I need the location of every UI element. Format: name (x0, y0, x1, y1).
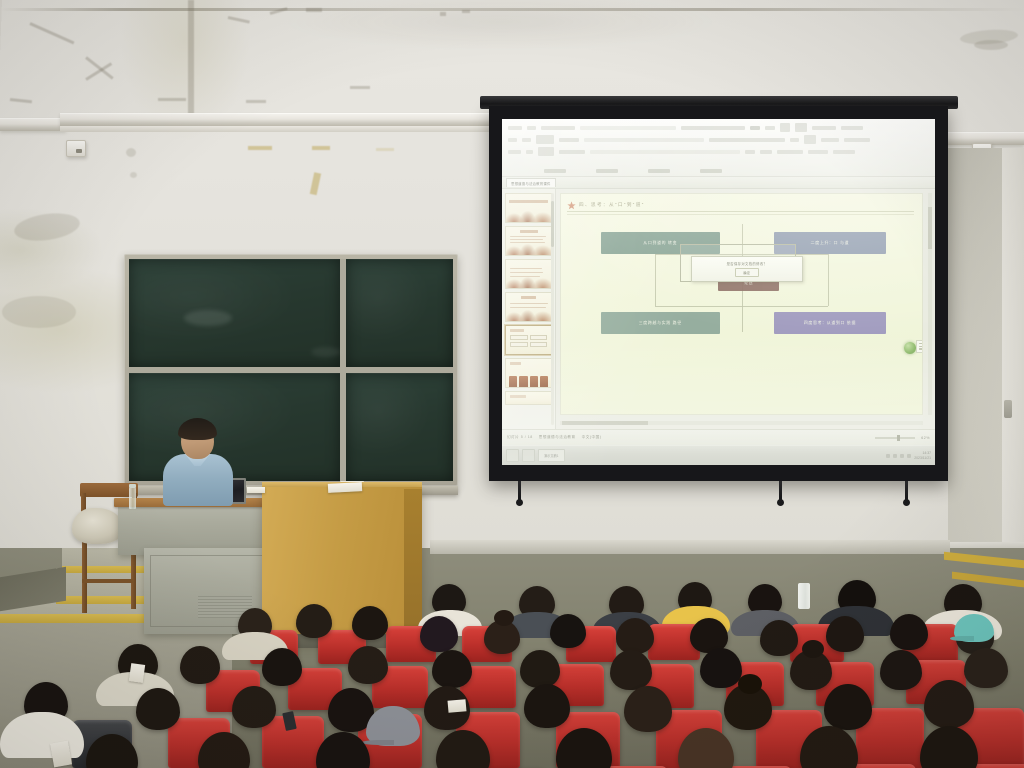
slide-vertical-scrollbar[interactable] (928, 193, 932, 415)
student-hair-bun (494, 610, 514, 626)
wall-streak (440, 12, 446, 16)
wall-stain (974, 40, 1008, 50)
wall-ceiling-seam (0, 8, 1024, 11)
wall-tape-residue (376, 148, 394, 151)
student-head (352, 606, 388, 640)
theme-name: 思想道德与法治教育 (539, 435, 576, 440)
slide-thumbnail[interactable] (505, 226, 552, 256)
wall-streak (188, 0, 194, 118)
blackboard-panel (346, 259, 453, 367)
flow-box-label: 从口到道的 转变 (643, 240, 677, 246)
blackboard-panel (129, 373, 340, 481)
slide-thumbnail[interactable] (505, 193, 552, 223)
chalk-smudge (311, 347, 341, 357)
student-head (348, 646, 388, 684)
language-indicator: 中文(中国) (582, 435, 602, 440)
student-head (262, 648, 302, 686)
floor-baseboard (430, 540, 950, 554)
electrical-box-left (66, 140, 86, 157)
dialog-message: 是否保存对文档的修改？ (727, 261, 768, 266)
system-tray[interactable] (886, 454, 911, 458)
slide-thumbnail-pane[interactable] (502, 189, 556, 429)
student-head (550, 614, 586, 648)
powerpoint-window[interactable]: 思想道德与法治教育课件 (502, 119, 935, 465)
screen-weight-hook (779, 481, 782, 503)
student-paper (50, 741, 72, 768)
cloth-bag (72, 508, 124, 544)
flow-box-label: 二度上升：口 与道 (811, 240, 850, 246)
blackboard-panel (346, 373, 453, 481)
ppt-status-bar: 幻灯片 5 / 18 思想道德与法治教育 中文(中国) 62% (502, 429, 935, 445)
wall-streak (158, 98, 186, 101)
wall-streak (306, 8, 322, 12)
student-head (180, 646, 220, 684)
ribbon-tab-insert[interactable] (596, 169, 618, 173)
wall-stain (126, 148, 136, 157)
student-head (964, 648, 1008, 688)
flow-box-bottom-left[interactable]: 三度跨越与实践 路径 (601, 312, 720, 334)
lecturer (163, 421, 233, 501)
student-head (296, 604, 332, 638)
wall-rail-main (60, 113, 492, 126)
ppt-workspace: 四、思考：从“口”到“道” 从口到 (502, 189, 935, 429)
flow-connector (828, 254, 829, 306)
blackboard-panel (129, 259, 340, 367)
student-head (524, 684, 570, 728)
start-button-icon[interactable] (506, 449, 519, 462)
student-head (824, 684, 872, 730)
student-audience (0, 560, 1024, 768)
screen-weight-hook (518, 481, 521, 503)
explorer-icon[interactable] (522, 449, 535, 462)
ribbon-tab-design[interactable] (648, 169, 670, 173)
star-icon (567, 201, 576, 210)
projector-screen: 思想道德与法治教育课件 (489, 106, 948, 481)
ppt-ribbon[interactable] (502, 119, 935, 177)
ribbon-tab-slideshow[interactable] (700, 169, 722, 173)
student-head (520, 650, 560, 688)
flow-box-label: 四度思考：从道到口 依据 (804, 320, 856, 326)
student-head (826, 616, 864, 652)
student-paper (448, 699, 467, 713)
slide-thumbnail[interactable] (505, 391, 552, 405)
save-dialog[interactable]: 是否保存对文档的修改？ 确定 (691, 256, 803, 282)
projection-surface: 思想道德与法治教育课件 (502, 119, 935, 465)
alcove-handle-icon (1004, 400, 1012, 418)
wall-stain (130, 172, 137, 178)
student-head (890, 614, 928, 650)
slide-thumbnail-selected[interactable] (505, 325, 552, 355)
slide-thumbnail[interactable] (505, 259, 552, 289)
flow-box-label: 三度跨越与实践 路径 (639, 320, 682, 326)
papers-on-desk (328, 482, 362, 493)
student-beanie (954, 614, 994, 642)
ppt-document-tabbar[interactable]: 思想道德与法治教育课件 (502, 177, 935, 189)
tray-icon[interactable] (900, 454, 904, 458)
slide-indicator: 幻灯片 5 / 18 (507, 435, 533, 440)
zoom-slider[interactable] (875, 437, 915, 439)
wall-rail-shadow (60, 126, 492, 132)
title-underline-secondary (567, 214, 914, 215)
wall-streak (350, 86, 370, 89)
student-head (420, 616, 458, 652)
student-paper (129, 663, 145, 683)
student-head (432, 650, 472, 688)
lecture-hall-photo: 思想道德与法治教育课件 (0, 0, 1024, 768)
current-slide[interactable]: 四、思考：从“口”到“道” 从口到 (560, 193, 923, 415)
taskbar-task-powerpoint[interactable]: 演示文稿1 (538, 449, 565, 462)
student-shoulders (0, 712, 84, 758)
title-underline (567, 211, 914, 212)
clock-date: 2023/11/21 (914, 456, 931, 460)
papers-on-desk (247, 487, 265, 493)
wall-alcove-recess (948, 148, 1004, 548)
slide-horizontal-scrollbar[interactable] (560, 421, 923, 425)
thumbnail-scrollbar[interactable] (551, 193, 554, 425)
zoom-level: 62% (921, 436, 930, 440)
student-head (232, 686, 276, 728)
bottle-cap (129, 484, 136, 488)
ppt-ribbon-tabs[interactable] (502, 165, 935, 176)
student-head (880, 650, 922, 690)
wall-tape-residue (248, 146, 272, 150)
wall-alcove-edge (1002, 148, 1024, 548)
wall-tape-residue (312, 146, 330, 150)
badge-tooltip (916, 340, 923, 353)
green-status-badge[interactable] (904, 342, 916, 354)
student-head (624, 686, 672, 732)
document-tab[interactable]: 思想道德与法治教育课件 (506, 178, 556, 187)
student-head (760, 620, 798, 656)
slide-editor-pane[interactable]: 四、思考：从“口”到“道” 从口到 (556, 189, 935, 429)
water-bottle (129, 487, 136, 509)
student-head (700, 648, 742, 688)
student-head (610, 650, 652, 690)
slide-title-text: 四、思考：从“口”到“道” (579, 202, 645, 208)
ribbon-tab-home[interactable] (544, 169, 566, 173)
wall-rail-left (0, 118, 66, 131)
windows-taskbar[interactable]: 演示文稿1 14:37 2023/11/21 (502, 445, 935, 465)
slide-thumbnail[interactable] (505, 292, 552, 322)
screen-weight-hook (905, 481, 908, 503)
student-hair-bun (802, 640, 824, 658)
slide-title-row: 四、思考：从“口”到“道” (567, 199, 914, 211)
flow-box-bottom-right[interactable]: 四度思考：从道到口 依据 (774, 312, 886, 334)
wall-stain (2, 296, 76, 328)
flow-connector (655, 254, 656, 306)
slide-thumbnail[interactable] (505, 358, 552, 388)
wall-streak (246, 100, 266, 103)
tray-icon[interactable] (893, 454, 897, 458)
flow-connector (655, 306, 828, 307)
student-phone (282, 711, 297, 731)
student-head (924, 680, 974, 728)
wall-streak (462, 10, 470, 13)
tray-icon[interactable] (886, 454, 890, 458)
student-head (616, 618, 654, 654)
chalk-smudge (184, 310, 232, 326)
student-hair-bun (738, 674, 762, 694)
tray-icon[interactable] (907, 454, 911, 458)
taskbar-clock[interactable]: 14:37 2023/11/21 (914, 451, 931, 460)
dialog-confirm-button[interactable]: 确定 (735, 268, 758, 277)
lecturer-hair (178, 418, 217, 440)
student-cap (366, 706, 420, 746)
student-head (136, 688, 180, 730)
